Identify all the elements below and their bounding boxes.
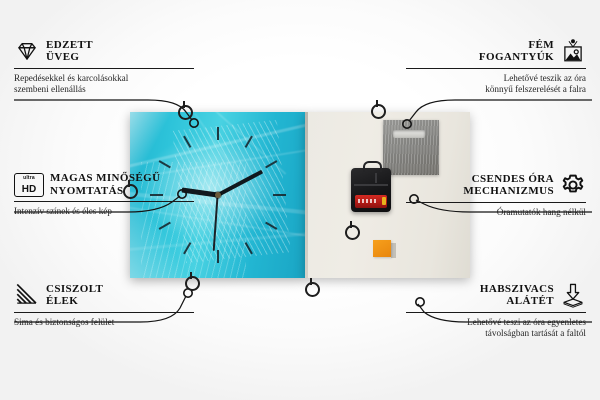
callout-polished-edges[interactable]: CSISZOLT ÉLEK Sima és biztonságos felüle… (14, 282, 194, 328)
metal-handle (345, 225, 360, 240)
arrow-onto-pad-icon (560, 282, 586, 308)
clock-center-cap (215, 192, 221, 198)
picture-frame-icon (560, 38, 586, 64)
panel-edge (305, 112, 308, 278)
diamond-icon (14, 38, 40, 64)
callout-description: Sima és biztonságos felület (14, 317, 194, 328)
callout-rule (14, 312, 194, 313)
ultra-hd-icon-top: ultra (15, 175, 43, 181)
callout-description: Repedésekkel és karcolásokkal szembeni e… (14, 73, 194, 95)
callout-title: FÉM FOGANTYÚK (479, 39, 554, 64)
callout-title: HABSZIVACS ALÁTÉT (480, 283, 554, 308)
metal-handle (178, 105, 193, 120)
plate-slot (393, 130, 425, 138)
ultra-hd-icon: ultra HD (14, 173, 44, 197)
callout-foam-pad[interactable]: HABSZIVACS ALÁTÉT Lehetővé teszi az óra … (406, 282, 586, 339)
infographic-canvas: EDZETT ÜVEG Repedésekkel és karcolásokka… (0, 0, 600, 400)
foam-pad (373, 240, 391, 257)
metal-handle (123, 184, 138, 199)
metal-handle (305, 282, 320, 297)
callout-description: Lehetővé teszi az óra egyenletes távolsá… (406, 317, 586, 339)
clock-hour-marker (217, 127, 219, 195)
callout-description: Lehetővé teszik az óra könnyű felszerelé… (406, 73, 586, 95)
battery-terminal (382, 197, 386, 205)
mechanism-hanging-loop (363, 161, 382, 172)
gear-icon (560, 172, 586, 198)
metal-handle (185, 276, 200, 291)
callout-rule (14, 68, 194, 69)
callout-rule (14, 201, 194, 202)
callout-rule (406, 312, 586, 313)
metal-handle (371, 104, 386, 119)
callout-metal-handles[interactable]: FÉM FOGANTYÚK Lehetővé teszik az óra kön… (406, 38, 586, 95)
battery (355, 195, 387, 208)
callout-hq-print[interactable]: ultra HD MAGAS MINŐSÉGŰ NYOMTATÁS Intenz… (14, 172, 194, 217)
battery-label (358, 199, 378, 203)
mechanism-seam (354, 184, 388, 186)
clock-mechanism (351, 168, 391, 212)
ultra-hd-icon-main: HD (15, 185, 43, 195)
callout-silent-mechanism[interactable]: CSENDES ÓRA MECHANIZMUS Óramutatók hang … (406, 172, 586, 218)
callout-description: Intenzív színek és éles kép (14, 206, 194, 217)
callout-title: CSENDES ÓRA MECHANIZMUS (463, 173, 554, 198)
mechanism-seam (375, 173, 377, 183)
hatched-edge-icon (14, 282, 40, 308)
callout-rule (406, 202, 586, 203)
foam-pad-shadow (391, 243, 396, 258)
callout-title: MAGAS MINŐSÉGŰ NYOMTATÁS (50, 172, 160, 197)
clock-hour-marker (218, 194, 286, 196)
callout-tempered-glass[interactable]: EDZETT ÜVEG Repedésekkel és karcolásokka… (14, 38, 194, 95)
callout-description: Óramutatók hang nélkül (406, 207, 586, 218)
callout-title: EDZETT ÜVEG (46, 39, 93, 64)
callout-rule (406, 68, 586, 69)
callout-title: CSISZOLT ÉLEK (46, 283, 103, 308)
metal-hanging-plate (383, 120, 439, 175)
